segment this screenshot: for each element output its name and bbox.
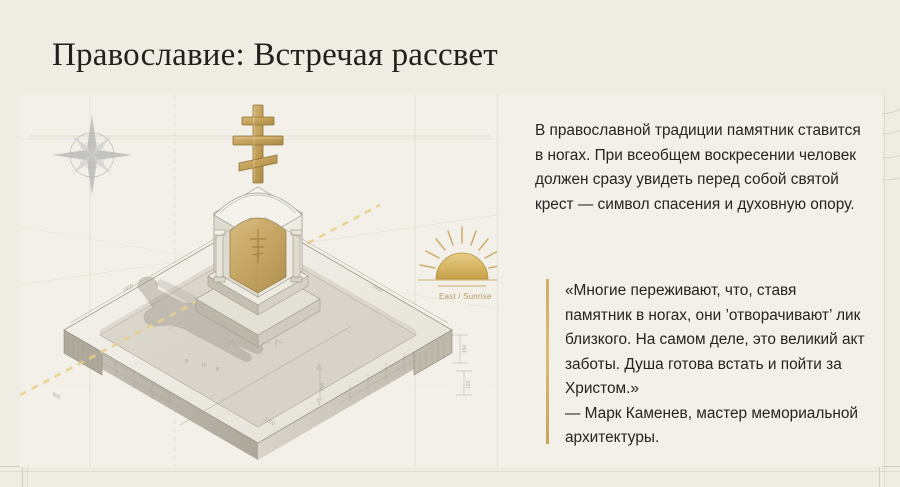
- column-divider: [497, 95, 498, 467]
- sunrise-label: East / Sunrise: [439, 292, 492, 301]
- quote-text: «Многие переживают, что, ставя памятник …: [565, 279, 866, 402]
- sunrise-icon-wrap: [412, 223, 497, 303]
- page-title: Православие: Встречая рассвет: [52, 37, 498, 74]
- svg-text:150: 150: [462, 344, 468, 353]
- svg-text:120: 120: [466, 380, 472, 389]
- svg-text:900: 900: [320, 382, 326, 391]
- body-paragraph: В православной традиции памятник ставитс…: [535, 119, 865, 217]
- orthodox-cross-icon: [233, 105, 283, 183]
- slide-root: Православие: Встречая рассвет: [0, 0, 900, 487]
- text-column: В православной традиции памятник ставитс…: [520, 95, 882, 467]
- memorial-monument: [196, 105, 320, 347]
- grave-plot-illustration: 1800 2400 1200 600 150 120 900 R H B: [20, 95, 497, 467]
- quote-accent-bar: [546, 279, 549, 444]
- svg-text:R: R: [185, 359, 189, 365]
- sunrise-icon: [412, 223, 497, 303]
- quote-block: «Многие переживают, что, ставя памятник …: [546, 279, 866, 451]
- compass-rose-icon: [52, 115, 132, 195]
- svg-text:H: H: [202, 363, 206, 369]
- title-band: Православие: Встречая рассвет: [0, 0, 900, 95]
- quote-attribution: — Марк Каменев, мастер мемориальной архи…: [565, 402, 866, 451]
- svg-text:600: 600: [51, 392, 61, 401]
